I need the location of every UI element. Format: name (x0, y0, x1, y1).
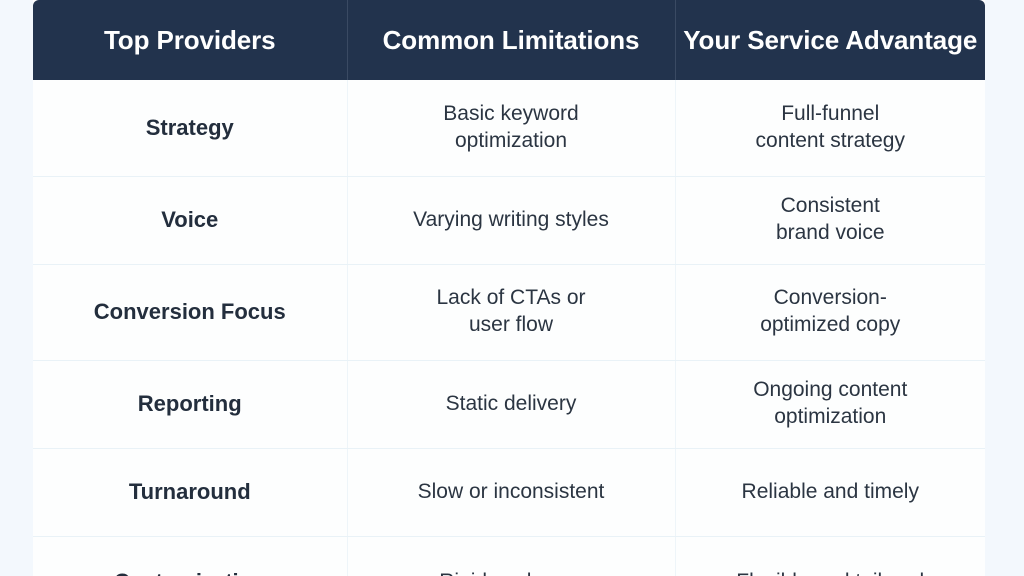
row-advantage-turnaround: Reliable and timely (675, 448, 985, 536)
limitation-line-2: optimization (362, 128, 661, 155)
table-body: Strategy Basic keyword optimization Full… (33, 80, 985, 576)
table-row: Voice Varying writing styles Consistent … (33, 176, 985, 264)
limitation-line-2: user flow (362, 312, 661, 339)
page-root: Top Providers Common Limitations Your Se… (0, 0, 1024, 576)
row-label-strategy: Strategy (33, 80, 347, 176)
limitation-line-1: Varying writing styles (362, 207, 661, 234)
column-header-common-limitations: Common Limitations (347, 0, 675, 80)
limitation-line-1: Basic keyword (362, 101, 661, 128)
column-header-your-service-advantage: Your Service Advantage (675, 0, 985, 80)
limitation-line-1: Static delivery (362, 391, 661, 418)
row-label-voice: Voice (33, 176, 347, 264)
row-limitation-voice: Varying writing styles (347, 176, 675, 264)
row-limitation-conversion-focus: Lack of CTAs or user flow (347, 264, 675, 360)
advantage-line-2: optimization (690, 404, 972, 431)
advantage-line-1: Consistent (690, 193, 972, 220)
limitation-line-1: Slow or inconsistent (362, 479, 661, 506)
table-header: Top Providers Common Limitations Your Se… (33, 0, 985, 80)
advantage-line-1: Conversion- (690, 285, 972, 312)
advantage-line-1: Ongoing content (690, 377, 972, 404)
row-label-conversion-focus: Conversion Focus (33, 264, 347, 360)
row-limitation-customization: Rigid packages (347, 536, 675, 576)
advantage-line-2: content strategy (690, 128, 972, 155)
advantage-line-1: Flexible and tailored (690, 569, 972, 576)
advantage-line-2: optimized copy (690, 312, 972, 339)
row-limitation-reporting: Static delivery (347, 360, 675, 448)
row-advantage-customization: Flexible and tailored (675, 536, 985, 576)
advantage-line-1: Reliable and timely (690, 479, 972, 506)
limitation-line-1: Lack of CTAs or (362, 285, 661, 312)
row-label-turnaround: Turnaround (33, 448, 347, 536)
advantage-line-2: brand voice (690, 220, 972, 247)
table-row: Conversion Focus Lack of CTAs or user fl… (33, 264, 985, 360)
row-limitation-strategy: Basic keyword optimization (347, 80, 675, 176)
row-advantage-strategy: Full-funnel content strategy (675, 80, 985, 176)
row-advantage-conversion-focus: Conversion- optimized copy (675, 264, 985, 360)
row-label-reporting: Reporting (33, 360, 347, 448)
table-row: Strategy Basic keyword optimization Full… (33, 80, 985, 176)
row-label-customization: Customization (33, 536, 347, 576)
table-row: Reporting Static delivery Ongoing conten… (33, 360, 985, 448)
table-header-row: Top Providers Common Limitations Your Se… (33, 0, 985, 80)
limitation-line-1: Rigid packages (362, 569, 661, 576)
table-row: Customization Rigid packages Flexible an… (33, 536, 985, 576)
table-row: Turnaround Slow or inconsistent Reliable… (33, 448, 985, 536)
column-header-top-providers: Top Providers (33, 0, 347, 80)
row-advantage-reporting: Ongoing content optimization (675, 360, 985, 448)
row-limitation-turnaround: Slow or inconsistent (347, 448, 675, 536)
row-advantage-voice: Consistent brand voice (675, 176, 985, 264)
advantage-line-1: Full-funnel (690, 101, 972, 128)
comparison-table: Top Providers Common Limitations Your Se… (33, 0, 985, 576)
